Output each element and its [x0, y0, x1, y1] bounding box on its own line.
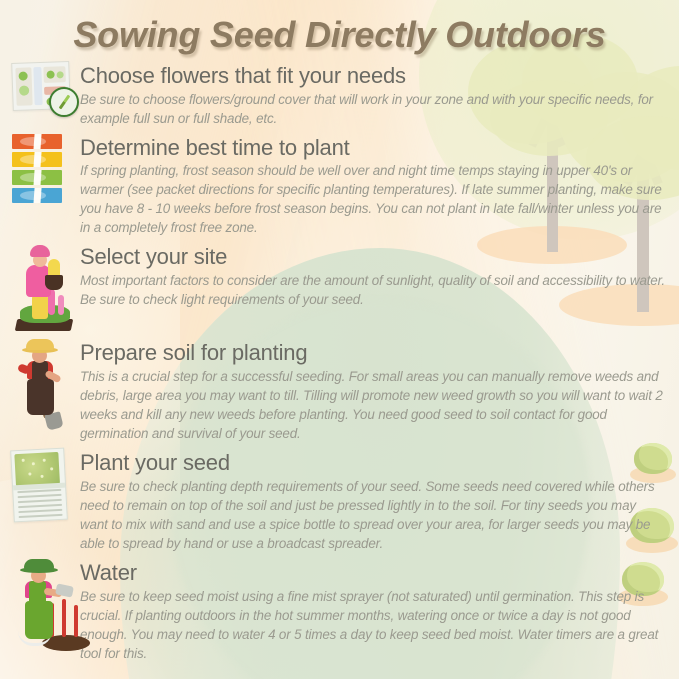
garden-plan-compass-icon [12, 62, 74, 110]
four-seasons-icon [12, 134, 62, 203]
red-flower-stalk-icon [62, 599, 66, 637]
gardener-watering-icon [12, 559, 74, 649]
figure-overalls-icon [25, 601, 53, 639]
figure-legs-icon [32, 295, 48, 319]
step-title: Determine best time to plant [80, 136, 665, 161]
flower-spike-icon [58, 295, 64, 315]
step-item-determine-time: Determine best time to plant If spring p… [0, 134, 679, 238]
step-text-block: Determine best time to plant If spring p… [80, 134, 665, 238]
figure-hat-icon [24, 559, 54, 570]
step-description: Most important factors to consider are t… [80, 271, 665, 309]
step-description: Be sure to check planting depth requirem… [80, 477, 665, 553]
step-title: Plant your seed [80, 451, 665, 476]
season-band-autumn-icon [12, 134, 62, 149]
step-icon-slot [12, 62, 74, 110]
step-description: If spring planting, frost season should … [80, 161, 665, 237]
step-icon-slot [12, 339, 74, 429]
poster-title: Sowing Seed Directly Outdoors [0, 14, 679, 56]
step-title: Water [80, 561, 665, 586]
step-description: This is a crucial step for a successful … [80, 367, 665, 443]
gardener-with-flowers-icon [12, 243, 74, 333]
compass-icon [49, 87, 79, 117]
gardener-digging-icon [12, 339, 74, 429]
figure-hat-icon [30, 245, 50, 257]
step-item-select-site: Select your site Most important factors … [0, 243, 679, 333]
infographic-poster: Sowing Seed Directly Outdoors [0, 0, 679, 679]
seed-packet-icon [10, 448, 68, 523]
step-description: Be sure to choose flowers/ground cover t… [80, 90, 665, 128]
step-icon-slot [12, 449, 74, 521]
season-band-spring-icon [12, 170, 62, 185]
step-text-block: Select your site Most important factors … [80, 243, 665, 309]
step-item-choose-flowers: Choose flowers that fit your needs Be su… [0, 62, 679, 128]
step-title: Choose flowers that fit your needs [80, 64, 665, 89]
step-text-block: Water Be sure to keep seed moist using a… [80, 559, 665, 663]
step-icon-slot [12, 134, 74, 206]
step-icon-slot [12, 243, 74, 333]
season-band-winter-icon [12, 188, 62, 203]
step-description: Be sure to keep seed moist using a fine … [80, 587, 665, 663]
figure-hat-icon [26, 339, 54, 350]
step-text-block: Prepare soil for planting This is a cruc… [80, 339, 665, 443]
step-item-prepare-soil: Prepare soil for planting This is a cruc… [0, 339, 679, 443]
step-text-block: Plant your seed Be sure to check plantin… [80, 449, 665, 553]
seed-packet-text-lines-icon [17, 489, 63, 523]
red-flower-stalk-icon [74, 605, 78, 637]
flower-pot-icon [45, 275, 63, 290]
figure-overalls-icon [27, 379, 54, 415]
steps-list: Choose flowers that fit your needs Be su… [0, 62, 679, 669]
step-title: Select your site [80, 245, 665, 270]
step-item-plant-seed: Plant your seed Be sure to check plantin… [0, 449, 679, 553]
step-text-block: Choose flowers that fit your needs Be su… [80, 62, 665, 128]
season-band-summer-icon [12, 152, 62, 167]
step-icon-slot [12, 559, 74, 649]
step-item-water: Water Be sure to keep seed moist using a… [0, 559, 679, 663]
step-title: Prepare soil for planting [80, 341, 665, 366]
